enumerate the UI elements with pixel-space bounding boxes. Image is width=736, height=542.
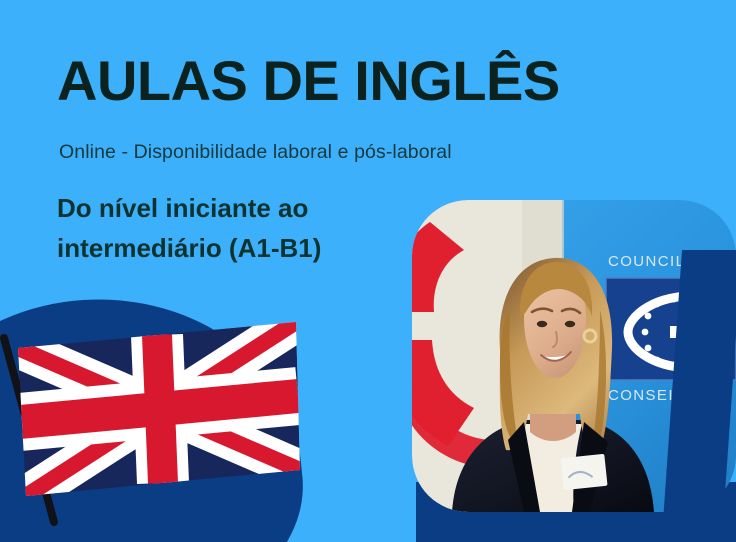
level-line-1: Do nível iniciante ao [57, 188, 387, 228]
uk-flag: Bandeira do Reino Unido (Union Jack) [0, 310, 314, 530]
union-jack [18, 322, 300, 496]
poster-canvas: AULAS DE INGLÊS Online - Disponibilidade… [0, 0, 736, 542]
name-badge [560, 454, 607, 490]
level-range-text: Do nível iniciante ao intermediário (A1-… [57, 188, 387, 269]
instructor-photo-alt: Mulher sorrindo em frente ao painel do C… [412, 200, 413, 201]
uk-flag-graphic [0, 310, 314, 530]
page-title: AULAS DE INGLÊS [57, 52, 560, 111]
availability-subtitle: Online - Disponibilidade laboral e pós-l… [59, 141, 452, 164]
level-line-2: intermediário (A1-B1) [57, 228, 387, 268]
